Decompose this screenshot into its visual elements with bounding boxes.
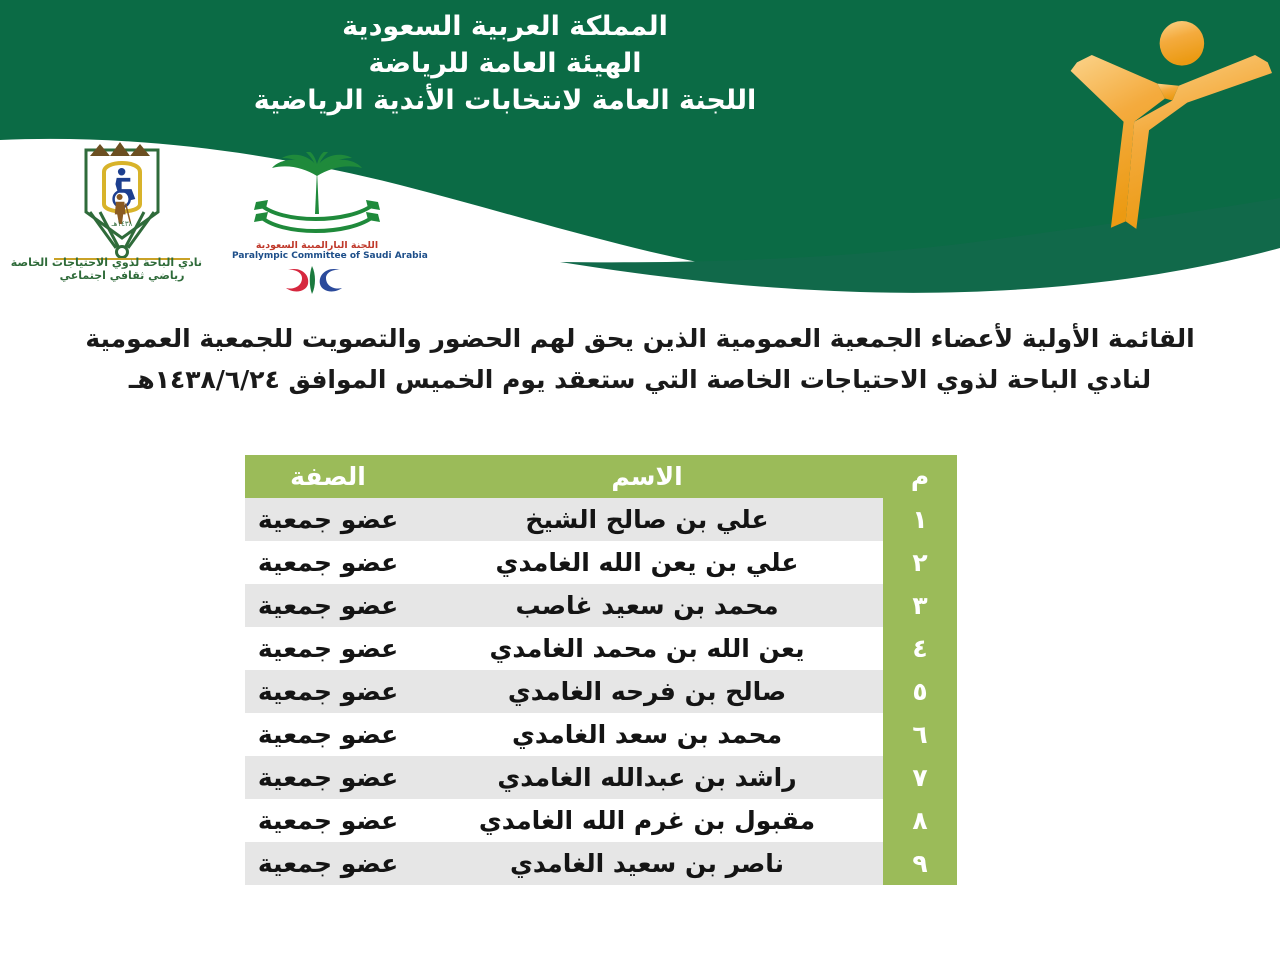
row-index-cell: ٧ bbox=[883, 756, 957, 799]
row-index-cell: ٩ bbox=[883, 842, 957, 885]
table-row: ٣محمد بن سعيد غاصبعضو جمعية bbox=[245, 584, 957, 627]
table-row: ٨مقبول بن غرم الله الغامديعضو جمعية bbox=[245, 799, 957, 842]
member-name-cell: ناصر بن سعيد الغامدي bbox=[411, 842, 883, 885]
table-row: ١علي بن صالح الشيخعضو جمعية bbox=[245, 498, 957, 541]
column-header-role: الصفة bbox=[245, 455, 411, 498]
column-header-name: الاسم bbox=[411, 455, 883, 498]
members-table-head: م الاسم الصفة bbox=[245, 455, 957, 498]
club-logo: ١٤٣٨هـ نادي الباحة لذوي الاحتياجات الخاص… bbox=[42, 138, 202, 278]
table-row: ٥صالح بن فرحه الغامديعضو جمعية bbox=[245, 670, 957, 713]
column-header-index: م bbox=[883, 455, 957, 498]
member-name-cell: صالح بن فرحه الغامدي bbox=[411, 670, 883, 713]
member-name-cell: مقبول بن غرم الله الغامدي bbox=[411, 799, 883, 842]
member-name-cell: محمد بن سعيد غاصب bbox=[411, 584, 883, 627]
row-index-cell: ٨ bbox=[883, 799, 957, 842]
paralympic-agitos-icon bbox=[282, 264, 352, 298]
row-index-cell: ٢ bbox=[883, 541, 957, 584]
saudi-emblem-palm-swords-icon bbox=[232, 152, 402, 252]
member-role-cell: عضو جمعية bbox=[245, 627, 411, 670]
document-title: القائمة الأولية لأعضاء الجمعية العمومية … bbox=[0, 318, 1280, 400]
members-table: م الاسم الصفة ١علي بن صالح الشيخعضو جمعي… bbox=[245, 455, 957, 885]
club-logo-year: ١٤٣٨هـ bbox=[111, 220, 133, 228]
document-title-line-1: القائمة الأولية لأعضاء الجمعية العمومية … bbox=[0, 318, 1280, 359]
member-role-cell: عضو جمعية bbox=[245, 799, 411, 842]
row-index-cell: ٥ bbox=[883, 670, 957, 713]
members-table-container: م الاسم الصفة ١علي بن صالح الشيخعضو جمعي… bbox=[245, 455, 957, 890]
member-role-cell: عضو جمعية bbox=[245, 584, 411, 627]
member-name-cell: علي بن يعن الله الغامدي bbox=[411, 541, 883, 584]
table-row: ٢علي بن يعن الله الغامديعضو جمعية bbox=[245, 541, 957, 584]
member-name-cell: راشد بن عبدالله الغامدي bbox=[411, 756, 883, 799]
club-logo-name-line2: رياضي ثقافي اجتماعي bbox=[42, 269, 202, 282]
members-table-body: ١علي بن صالح الشيخعضو جمعية٢علي بن يعن ا… bbox=[245, 498, 957, 885]
members-table-header-row: م الاسم الصفة bbox=[245, 455, 957, 498]
table-row: ٧راشد بن عبدالله الغامديعضو جمعية bbox=[245, 756, 957, 799]
member-name-cell: يعن الله بن محمد الغامدي bbox=[411, 627, 883, 670]
member-role-cell: عضو جمعية bbox=[245, 541, 411, 584]
member-role-cell: عضو جمعية bbox=[245, 670, 411, 713]
table-row: ٩ناصر بن سعيد الغامديعضو جمعية bbox=[245, 842, 957, 885]
member-name-cell: علي بن صالح الشيخ bbox=[411, 498, 883, 541]
member-role-cell: عضو جمعية bbox=[245, 756, 411, 799]
document-title-line-2: لنادي الباحة لذوي الاحتياجات الخاصة التي… bbox=[0, 359, 1280, 400]
member-role-cell: عضو جمعية bbox=[245, 498, 411, 541]
member-role-cell: عضو جمعية bbox=[245, 842, 411, 885]
paralympic-logo-name-ar: اللجنة البارالمبية السعودية bbox=[232, 240, 402, 251]
row-index-cell: ٣ bbox=[883, 584, 957, 627]
row-index-cell: ٤ bbox=[883, 627, 957, 670]
row-index-cell: ٦ bbox=[883, 713, 957, 756]
table-row: ٤يعن الله بن محمد الغامديعضو جمعية bbox=[245, 627, 957, 670]
row-index-cell: ١ bbox=[883, 498, 957, 541]
paralympic-logo-name-en: Paralympic Committee of Saudi Arabia bbox=[232, 251, 402, 262]
club-logo-name-line1: نادي الباحة لذوي الاحتياجات الخاصة bbox=[42, 256, 202, 269]
member-role-cell: عضو جمعية bbox=[245, 713, 411, 756]
paralympic-committee-logo: اللجنة البارالمبية السعودية Paralympic C… bbox=[232, 152, 402, 297]
member-name-cell: محمد بن سعد الغامدي bbox=[411, 713, 883, 756]
table-row: ٦محمد بن سعد الغامديعضو جمعية bbox=[245, 713, 957, 756]
